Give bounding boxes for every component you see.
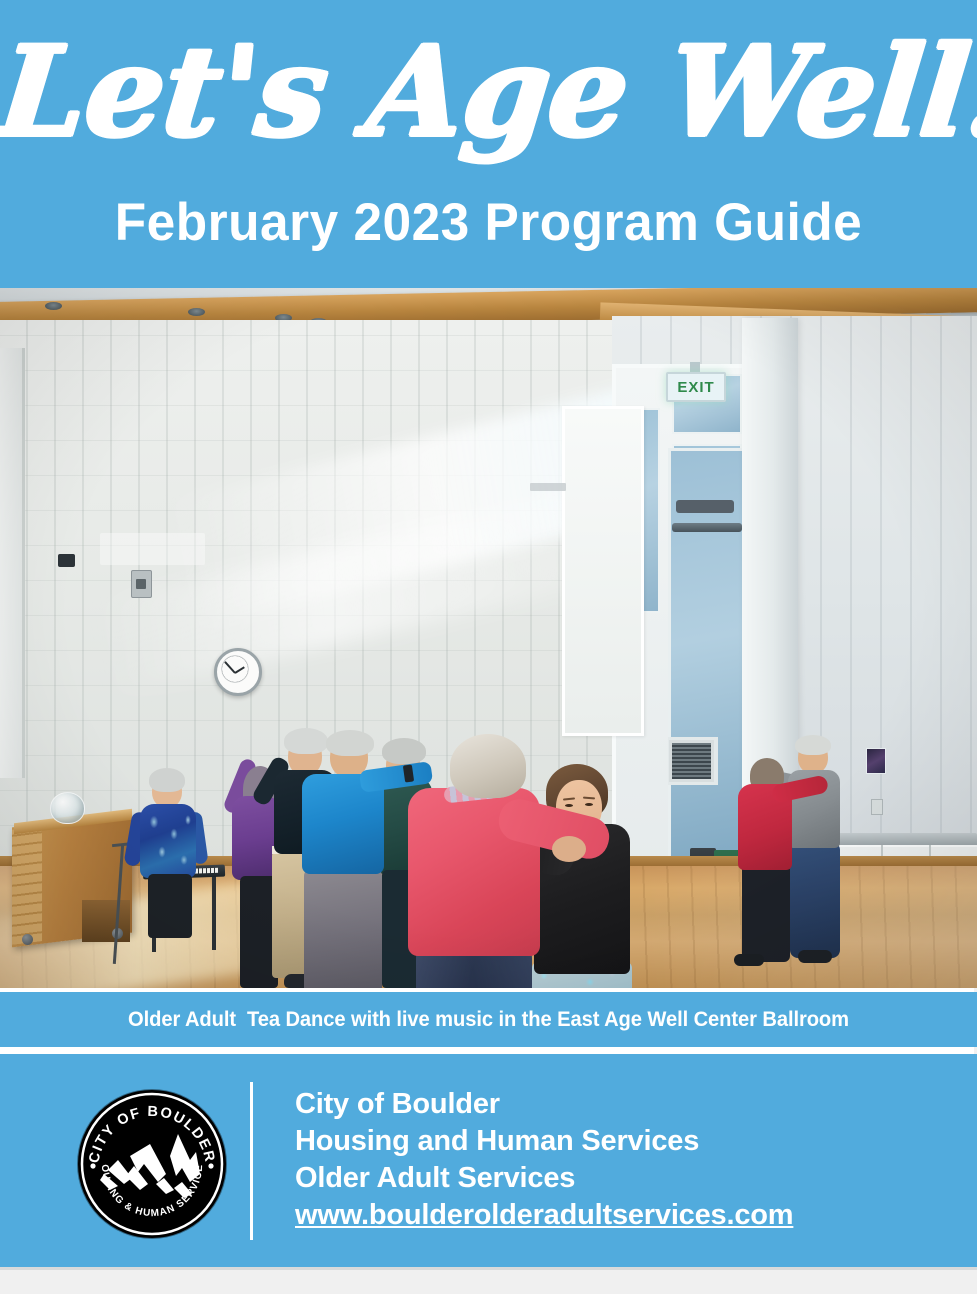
city-of-boulder-logo: CITY OF BOULDER HOUSING & HUMAN SERVICES <box>78 1090 226 1238</box>
logo-dot <box>208 1163 213 1168</box>
dancer-grey-pants <box>304 868 382 988</box>
piano-bench <box>82 900 130 942</box>
dancer-hair <box>795 735 831 755</box>
dancer-hand <box>552 836 586 862</box>
kitchenette-counter <box>830 833 977 845</box>
photo-caption-band: Older Adult Tea Dance with live music in… <box>0 992 977 1047</box>
footer-website-link[interactable]: www.boulderolderadultservices.com <box>295 1197 955 1234</box>
wall-switch-plate <box>58 554 75 567</box>
wall-thermostat <box>131 570 152 598</box>
footer-line-division: Older Adult Services <box>295 1160 955 1197</box>
page-background <box>0 1270 977 1294</box>
wall-outlet <box>871 799 883 815</box>
dancer-hair <box>326 730 374 756</box>
dancer-hair <box>284 728 328 754</box>
cover-photo: EXIT <box>0 288 977 988</box>
dancer-shoe <box>798 950 832 963</box>
logo-dot <box>90 1163 95 1168</box>
musician-hair <box>149 768 185 792</box>
dancer-shoe <box>734 954 764 966</box>
caption-rule-bottom <box>0 1047 974 1054</box>
footer-divider <box>250 1082 253 1240</box>
page-title: Let's Age Well! <box>0 28 977 158</box>
musician-shirt-pattern <box>140 804 196 878</box>
glass-bowl <box>50 792 85 824</box>
door-push-bar <box>672 523 742 532</box>
dancer-jeans <box>790 842 840 958</box>
program-guide-cover: Let's Age Well! February 2023 Program Gu… <box>0 0 977 1294</box>
piano-caster <box>22 934 33 945</box>
dancer-legs <box>742 864 790 962</box>
exit-sign: EXIT <box>666 372 726 402</box>
footer-line-department: Housing and Human Services <box>295 1123 955 1160</box>
door-closer <box>676 500 734 513</box>
clock-face-ticks <box>220 654 250 684</box>
photo-caption: Older Adult Tea Dance with live music in… <box>128 1008 849 1032</box>
footer-contact-block: City of Boulder Housing and Human Servic… <box>295 1086 955 1234</box>
dancer-eye <box>585 803 593 806</box>
wall-sign <box>530 483 566 491</box>
piano-side-panel <box>12 826 42 945</box>
ceiling-downlight <box>188 308 205 316</box>
left-door-jamb <box>0 348 25 778</box>
dancer-hair <box>382 738 426 764</box>
dancer-hair <box>450 734 526 798</box>
cover-header-band: Let's Age Well! February 2023 Program Gu… <box>0 0 977 288</box>
footer-line-city: City of Boulder <box>295 1086 955 1123</box>
musician-legs <box>148 874 192 938</box>
wall-vent <box>669 740 714 782</box>
white-door <box>562 406 644 736</box>
page-subtitle: February 2023 Program Guide <box>15 196 963 249</box>
wall-poster <box>866 748 886 774</box>
wall-light-panel <box>100 533 205 565</box>
ceiling-downlight <box>45 302 62 310</box>
logo-artwork: CITY OF BOULDER HOUSING & HUMAN SERVICES <box>78 1090 226 1238</box>
dancer-eye <box>565 804 573 807</box>
keyboard-stand-leg <box>212 876 216 950</box>
